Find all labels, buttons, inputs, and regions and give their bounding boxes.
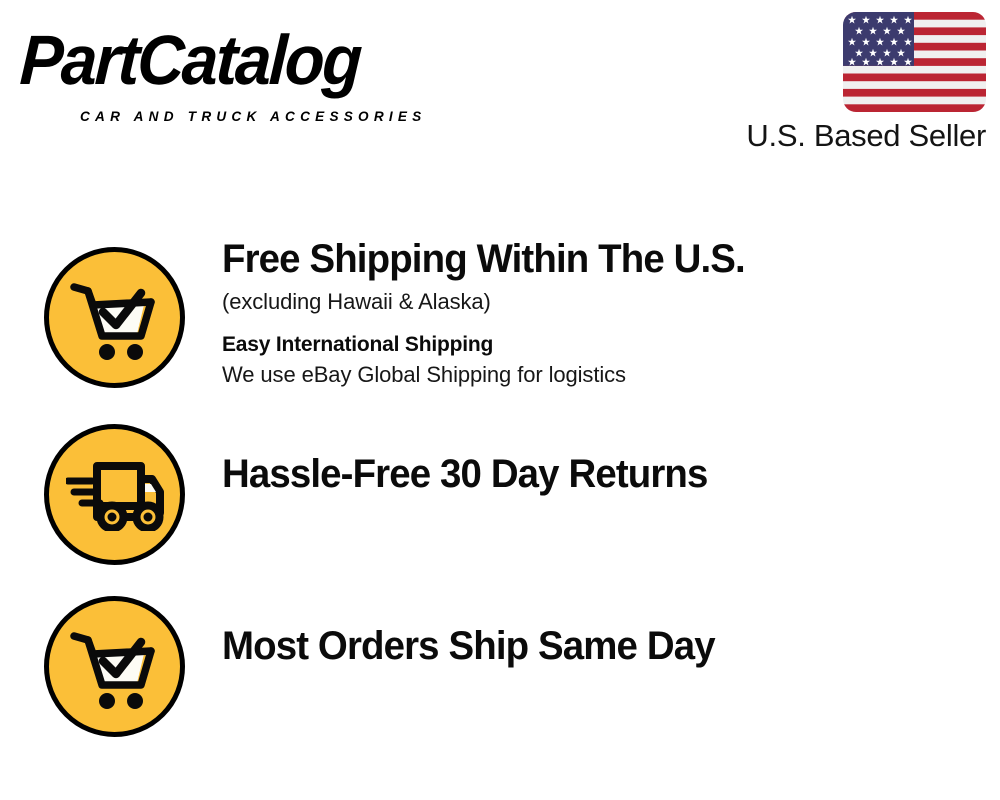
logo-wordmark: PartCatalog	[18, 22, 362, 98]
feature-title: Most Orders Ship Same Day	[222, 623, 950, 670]
brand-logo[interactable]: PartCatalog CAR AND TRUCK ACCESSORIES	[22, 22, 492, 122]
shopping-cart-check-icon	[44, 247, 185, 388]
header-banner: PartCatalog CAR AND TRUCK ACCESSORIES	[0, 0, 1000, 170]
feature-text: Free Shipping Within The U.S. (excluding…	[222, 236, 980, 390]
feature-row: Free Shipping Within The U.S. (excluding…	[0, 228, 1000, 408]
feature-text: Hassle-Free 30 Day Returns	[222, 451, 980, 498]
feature-subtitle: (excluding Hawaii & Alaska)	[222, 287, 980, 317]
us-based-seller-label: U.S. Based Seller	[746, 117, 986, 155]
logo-tagline: CAR AND TRUCK ACCESSORIES	[80, 108, 426, 124]
feature-subtitle-strong: Easy International Shipping	[222, 330, 980, 359]
feature-subtitle-note: We use eBay Global Shipping for logistic…	[222, 360, 980, 390]
feature-text: Most Orders Ship Same Day	[222, 623, 980, 670]
feature-title: Hassle-Free 30 Day Returns	[222, 451, 950, 498]
feature-row: Hassle-Free 30 Day Returns	[0, 413, 1000, 583]
delivery-truck-icon	[44, 424, 185, 565]
us-flag-icon	[843, 12, 986, 112]
shopping-cart-check-icon	[44, 596, 185, 737]
feature-row: Most Orders Ship Same Day	[0, 583, 1000, 753]
feature-title: Free Shipping Within The U.S.	[222, 236, 950, 283]
